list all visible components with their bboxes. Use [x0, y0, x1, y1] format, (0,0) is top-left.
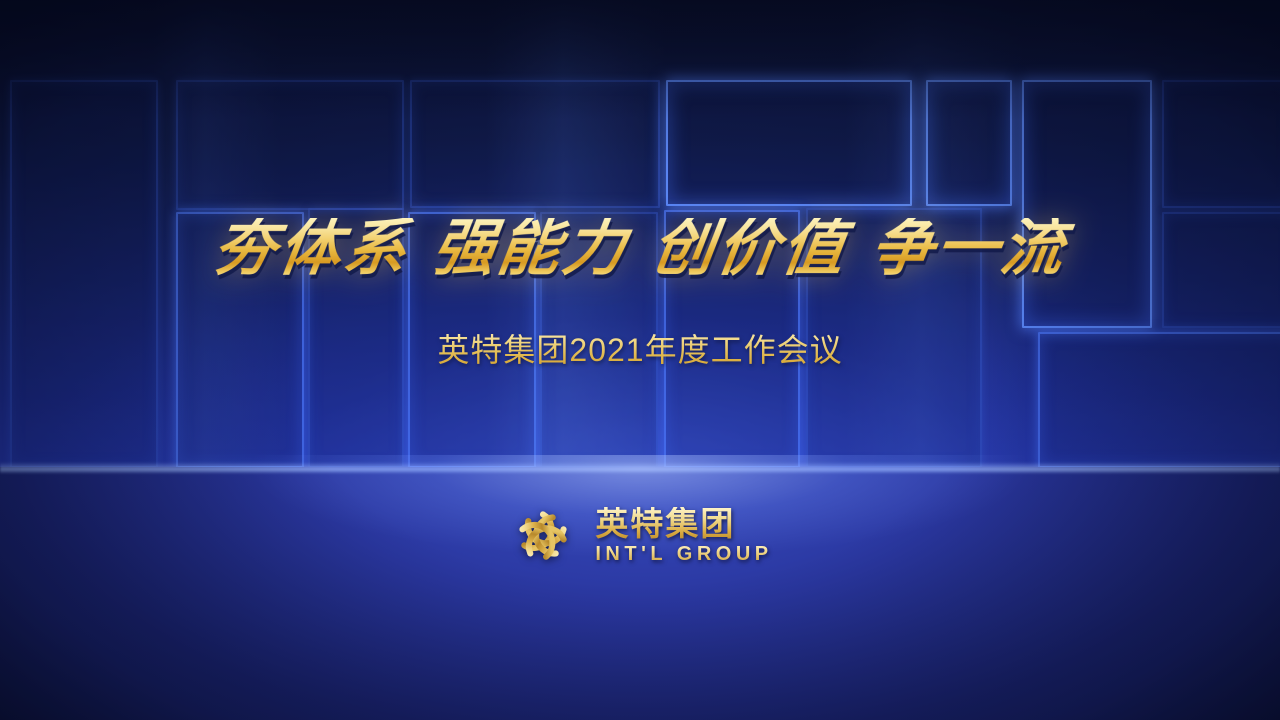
logo-name-cn: 英特集团	[595, 507, 772, 542]
brand-logo-lockup: 英特集团 INT'L GROUP	[0, 500, 1280, 572]
main-title: 夯体系强能力创价值争一流	[0, 218, 1280, 280]
presentation-slide: 夯体系强能力创价值争一流 英特集团2021年度工作会议	[0, 0, 1280, 720]
slide-content: 夯体系强能力创价值争一流 英特集团2021年度工作会议	[0, 0, 1280, 720]
intl-group-knot-emblem-icon	[507, 500, 579, 572]
logo-name-en: INT'L GROUP	[595, 544, 772, 565]
subtitle: 英特集团2021年度工作会议	[0, 325, 1280, 371]
logo-wordmark: 英特集团 INT'L GROUP	[595, 507, 772, 565]
